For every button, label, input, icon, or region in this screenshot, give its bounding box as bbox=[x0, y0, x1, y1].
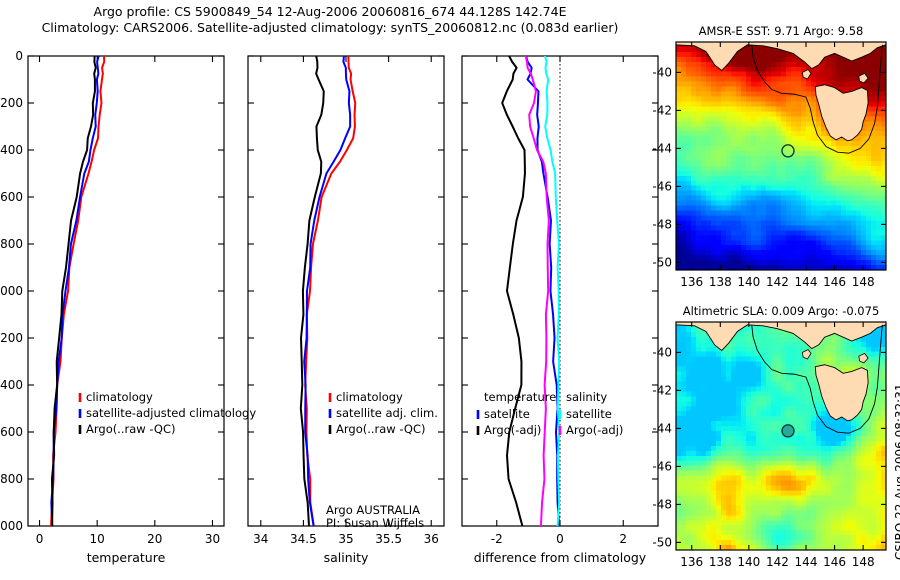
y-tick-label: 600 bbox=[0, 190, 23, 204]
map-x-tick-label: 146 bbox=[823, 275, 846, 289]
map-sla: Altimetric SLA: 0.009 Argo: -0.075136138… bbox=[652, 304, 886, 569]
map-x-tick-label: 148 bbox=[852, 555, 875, 569]
legend-label: Argo(-adj) bbox=[484, 423, 541, 437]
x-axis-label: difference from climatology bbox=[474, 550, 647, 565]
map-x-tick-label: 138 bbox=[709, 275, 732, 289]
map-y-tick-label: -48 bbox=[652, 497, 672, 511]
map-y-tick-label: -46 bbox=[652, 179, 672, 193]
legend-label: climatology bbox=[336, 390, 403, 404]
map-x-tick-label: 142 bbox=[766, 275, 789, 289]
legend-difference: temperaturesatelliteArgo(-adj)salinitysa… bbox=[478, 390, 623, 437]
legend-heading: temperature bbox=[484, 390, 556, 404]
x-axis-label: salinity bbox=[324, 550, 369, 565]
series-line bbox=[301, 56, 324, 526]
y-tick-label: 1000 bbox=[0, 284, 23, 298]
map-x-tick-label: 144 bbox=[795, 275, 818, 289]
profile-panel-difference: -202difference from climatology bbox=[462, 56, 658, 565]
x-tick-label: -2 bbox=[491, 532, 503, 546]
map-y-tick-label: -40 bbox=[652, 345, 672, 359]
legend-label: satellite bbox=[484, 407, 530, 421]
legend-heading: salinity bbox=[566, 390, 607, 404]
x-tick-label: 20 bbox=[147, 532, 162, 546]
map-raster bbox=[676, 42, 887, 271]
map-y-tick-label: -42 bbox=[652, 383, 672, 397]
figure-title: Argo profile: CS 5900849_54 12-Aug-2006 … bbox=[0, 4, 660, 36]
legend-label: satellite-adjusted climatology bbox=[86, 406, 256, 420]
legend-label: satellite adj. clim. bbox=[336, 406, 438, 420]
argo-profile-figure: Argo profile: CS 5900849_54 12-Aug-2006 … bbox=[0, 0, 900, 580]
map-title: Altimetric SLA: 0.009 Argo: -0.075 bbox=[683, 304, 880, 318]
x-tick-label: 2 bbox=[619, 532, 627, 546]
map-y-tick-label: -42 bbox=[652, 103, 672, 117]
x-tick-label: 36 bbox=[424, 532, 439, 546]
x-tick-label: 30 bbox=[205, 532, 220, 546]
y-tick-label: 800 bbox=[0, 237, 23, 251]
series-line bbox=[304, 56, 350, 526]
map-y-tick-label: -44 bbox=[652, 421, 672, 435]
y-tick-label: 1600 bbox=[0, 425, 23, 439]
y-tick-label: 1800 bbox=[0, 472, 23, 486]
legend-label: satellite bbox=[566, 407, 612, 421]
map-y-tick-label: -46 bbox=[652, 459, 672, 473]
title-line-1: Argo profile: CS 5900849_54 12-Aug-2006 … bbox=[0, 4, 660, 20]
y-tick-label: 1400 bbox=[0, 378, 23, 392]
map-x-tick-label: 136 bbox=[680, 275, 703, 289]
x-tick-label: 34 bbox=[253, 532, 268, 546]
map-title: AMSR-E SST: 9.71 Argo: 9.58 bbox=[699, 24, 864, 38]
map-y-tick-label: -50 bbox=[652, 535, 672, 549]
series-line bbox=[545, 56, 559, 526]
title-line-2: Climatology: CARS2006. Satellite-adjuste… bbox=[0, 20, 660, 36]
y-tick-label: 200 bbox=[0, 96, 23, 110]
map-y-tick-label: -40 bbox=[652, 65, 672, 79]
credit-line-2: PI: Susan Wijffels bbox=[326, 516, 424, 530]
map-x-tick-label: 138 bbox=[709, 555, 732, 569]
x-axis-label: temperature bbox=[87, 550, 166, 565]
map-y-tick-label: -48 bbox=[652, 217, 672, 231]
map-x-tick-label: 136 bbox=[680, 555, 703, 569]
legend-label: climatology bbox=[86, 390, 153, 404]
panel-frame bbox=[462, 56, 658, 526]
map-x-tick-label: 140 bbox=[737, 555, 760, 569]
float-position-marker bbox=[782, 425, 794, 437]
x-tick-label: 0 bbox=[556, 532, 564, 546]
map-x-tick-label: 140 bbox=[737, 275, 760, 289]
credit-line-1: Argo AUSTRALIA bbox=[326, 503, 420, 517]
map-sst: AMSR-E SST: 9.71 Argo: 9.581361381401421… bbox=[652, 24, 886, 289]
series-line bbox=[52, 56, 96, 526]
csiro-timestamp: CSIRO 22-Aug-2006 08:32:31 bbox=[893, 384, 900, 560]
profile-panel-temperature: 0200400600800100012001400160018002000010… bbox=[0, 49, 224, 565]
legend-temperature: climatologysatellite-adjusted climatolog… bbox=[80, 390, 256, 436]
credit-block: Argo AUSTRALIAPI: Susan Wijffels bbox=[326, 503, 424, 530]
legend-salinity: climatologysatellite adj. clim.Argo(..ra… bbox=[330, 390, 438, 436]
y-tick-label: 0 bbox=[15, 49, 23, 63]
x-tick-label: 34.5 bbox=[290, 532, 317, 546]
map-x-tick-label: 142 bbox=[766, 555, 789, 569]
x-tick-label: 35.5 bbox=[375, 532, 402, 546]
map-raster bbox=[676, 322, 887, 551]
x-tick-label: 0 bbox=[36, 532, 44, 546]
figure-canvas: 0200400600800100012001400160018002000010… bbox=[0, 0, 900, 580]
profile-panel-salinity: 3434.53535.536salinity bbox=[248, 56, 444, 565]
legend-label: Argo(..raw -QC) bbox=[336, 422, 426, 436]
x-tick-label: 10 bbox=[90, 532, 105, 546]
legend-label: Argo(-adj) bbox=[566, 423, 623, 437]
map-x-tick-label: 148 bbox=[852, 275, 875, 289]
map-x-tick-label: 144 bbox=[795, 555, 818, 569]
map-x-tick-label: 146 bbox=[823, 555, 846, 569]
series-line bbox=[305, 56, 355, 526]
series-line bbox=[502, 56, 525, 526]
panel-frame bbox=[28, 56, 224, 526]
x-tick-label: 35 bbox=[338, 532, 353, 546]
map-y-tick-label: -44 bbox=[652, 141, 672, 155]
y-tick-label: 2000 bbox=[0, 519, 23, 533]
y-tick-label: 400 bbox=[0, 143, 23, 157]
legend-label: Argo(..raw -QC) bbox=[86, 422, 176, 436]
panel-frame bbox=[248, 56, 444, 526]
map-y-tick-label: -50 bbox=[652, 255, 672, 269]
y-tick-label: 1200 bbox=[0, 331, 23, 345]
